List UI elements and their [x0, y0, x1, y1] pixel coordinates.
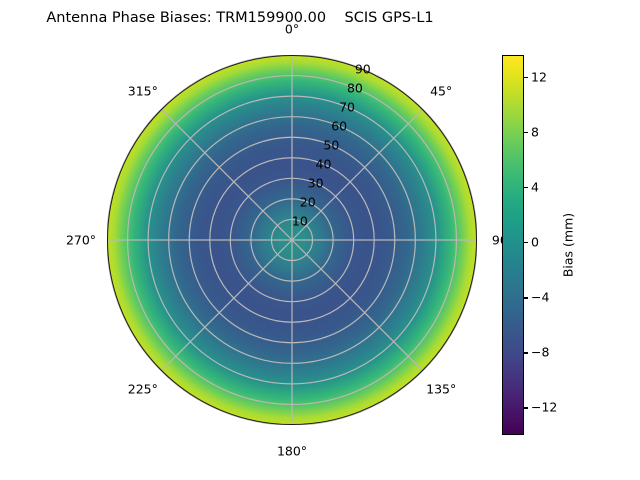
polar-data-disc — [107, 55, 477, 425]
radial-tick-label: 10 — [292, 214, 308, 229]
colorbar-tick-mark — [524, 77, 528, 78]
colorbar-tick-label: 4 — [531, 180, 539, 195]
colorbar-tick-mark — [524, 132, 528, 133]
angular-tick-label: 180° — [277, 444, 307, 459]
radial-tick-label: 80 — [347, 81, 363, 96]
figure-canvas: Antenna Phase Biases: TRM159900.00 SCIS … — [0, 0, 640, 480]
colorbar-tick-label: −8 — [531, 345, 549, 360]
radial-tick-label: 40 — [316, 157, 332, 172]
radial-tick-label: 90 — [355, 62, 371, 77]
colorbar-tick-label: −12 — [531, 400, 557, 415]
colorbar-gradient — [502, 55, 524, 435]
colorbar-tick-mark — [524, 407, 528, 408]
bias-heatmap-field — [107, 55, 477, 425]
radial-tick-label: 50 — [323, 138, 339, 153]
radial-tick-label: 20 — [300, 195, 316, 210]
colorbar[interactable]: 12840−4−8−12 — [502, 55, 524, 435]
angular-tick-label: 270° — [66, 233, 96, 248]
colorbar-tick-mark — [524, 187, 528, 188]
radial-tick-label: 60 — [331, 119, 347, 134]
page-title: Antenna Phase Biases: TRM159900.00 SCIS … — [0, 10, 480, 26]
radial-tick-label: 70 — [339, 100, 355, 115]
colorbar-tick-label: 0 — [531, 235, 539, 250]
colorbar-tick-mark — [524, 352, 528, 353]
angular-tick-label: 90° — [492, 233, 502, 248]
colorbar-tick-mark — [524, 297, 528, 298]
colorbar-tick-label: 8 — [531, 125, 539, 140]
polar-plot[interactable]: 102030405060708090 — [107, 55, 477, 425]
colorbar-label: Bias (mm) — [561, 213, 576, 277]
colorbar-tick-label: −4 — [531, 290, 549, 305]
colorbar-tick-mark — [524, 242, 528, 243]
colorbar-tick-label: 12 — [531, 70, 547, 85]
radial-tick-label: 30 — [308, 176, 324, 191]
